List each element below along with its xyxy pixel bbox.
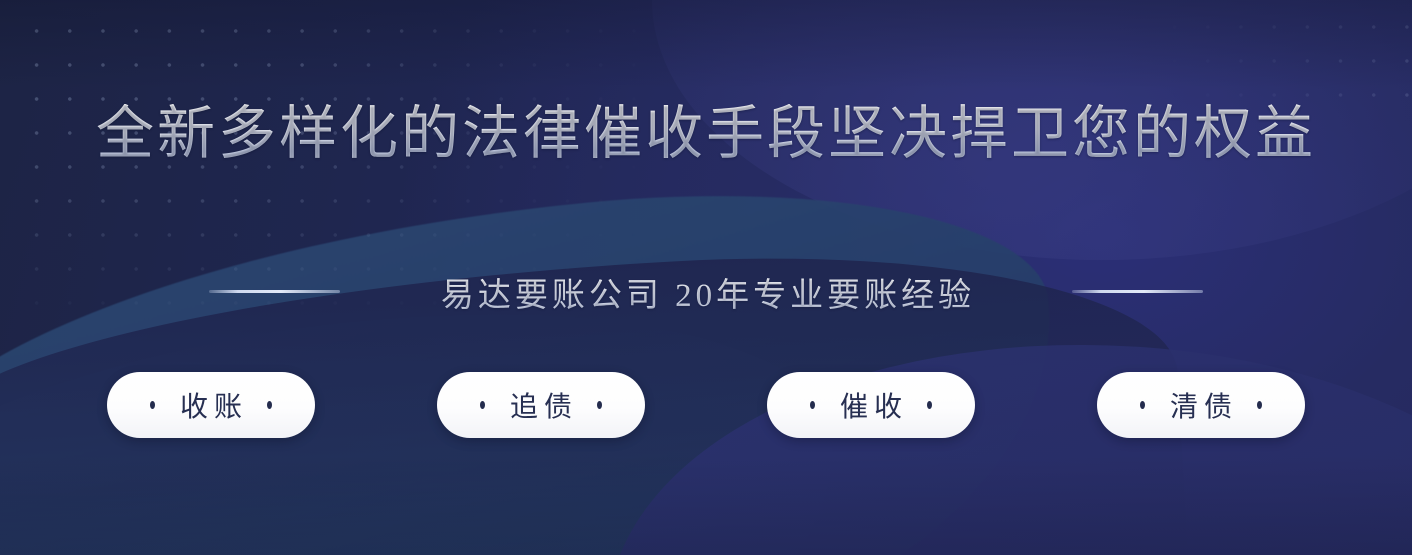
- promo-banner: 全新多样化的法律催收手段坚决捍卫您的权益 易达要账公司 20年专业要账经验 收账…: [0, 0, 1412, 555]
- subtitle-row: 易达要账公司 20年专业要账经验: [0, 268, 1412, 316]
- dot-icon: [1257, 401, 1262, 409]
- dot-icon: [1140, 401, 1145, 409]
- service-pill-shouzhang[interactable]: 收账: [107, 372, 315, 438]
- service-pill-zhuizhai[interactable]: 追债: [437, 372, 645, 438]
- dot-icon: [597, 401, 602, 409]
- service-pill-qingzhai[interactable]: 清债: [1097, 372, 1305, 438]
- dot-icon: [480, 401, 485, 409]
- divider-line-right: [1072, 290, 1203, 293]
- service-pill-row: 收账 追债 催收 清债: [107, 372, 1305, 438]
- headline: 全新多样化的法律催收手段坚决捍卫您的权益: [96, 104, 1316, 165]
- service-pill-cuishou[interactable]: 催收: [767, 372, 975, 438]
- service-pill-label: 催收: [834, 385, 908, 425]
- service-pill-label: 追债: [504, 385, 578, 425]
- service-pill-label: 清债: [1164, 385, 1238, 425]
- dot-icon: [150, 401, 155, 409]
- banner-content: 全新多样化的法律催收手段坚决捍卫您的权益 易达要账公司 20年专业要账经验 收账…: [0, 0, 1412, 555]
- dot-icon: [810, 401, 815, 409]
- dot-icon: [927, 401, 932, 409]
- dot-icon: [267, 401, 272, 409]
- service-pill-label: 收账: [174, 385, 248, 425]
- divider-line-left: [209, 290, 340, 293]
- subtitle: 易达要账公司 20年专业要账经验: [441, 268, 975, 316]
